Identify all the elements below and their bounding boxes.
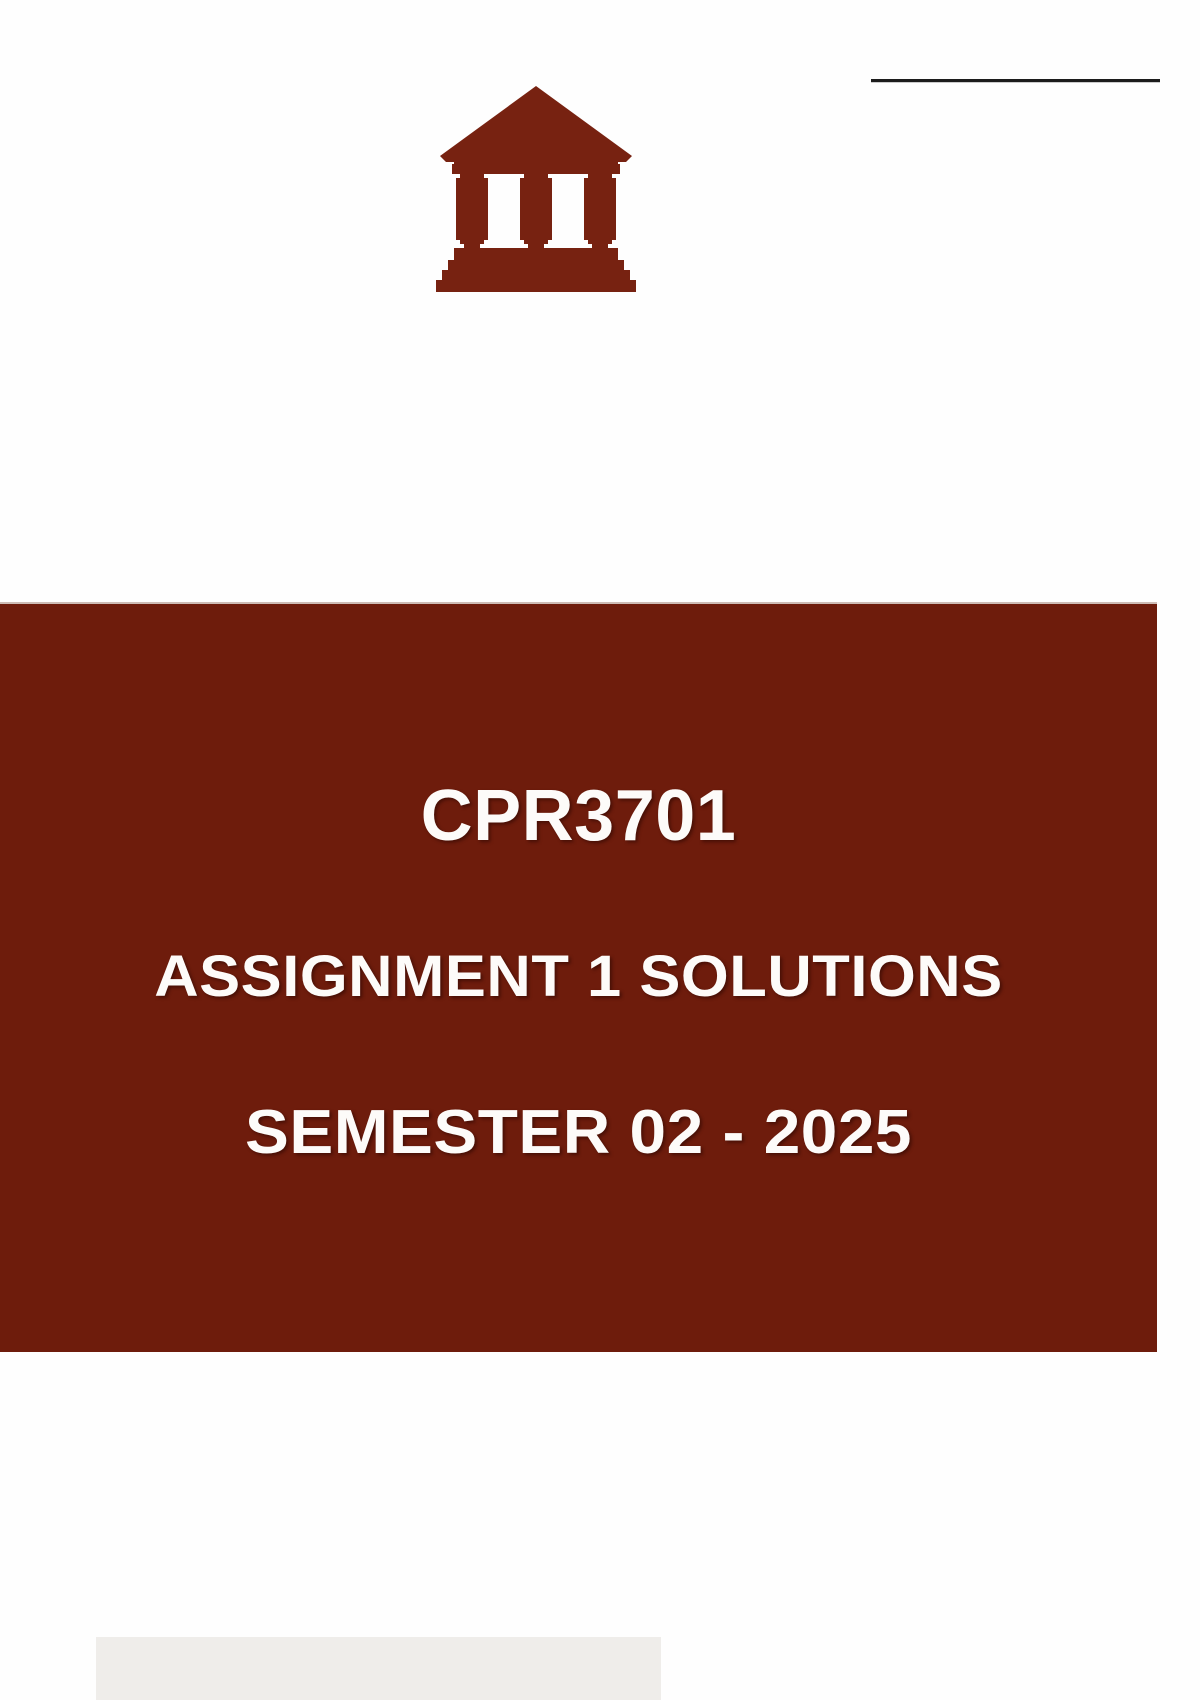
- footer-placeholder-block: [96, 1637, 661, 1700]
- institution-logo: [436, 82, 636, 294]
- module-code: CPR3701: [0, 779, 1157, 855]
- document-title: ASSIGNMENT 1 SOLUTIONS: [0, 947, 1192, 1008]
- banner-text-group: CPR3701 ASSIGNMENT 1 SOLUTIONS SEMESTER …: [0, 779, 1157, 1165]
- title-banner: CPR3701 ASSIGNMENT 1 SOLUTIONS SEMESTER …: [0, 602, 1157, 1352]
- semester-label: SEMESTER 02 - 2025: [0, 1100, 1192, 1165]
- classical-building-icon: [436, 82, 636, 294]
- top-divider-rule: [871, 79, 1160, 82]
